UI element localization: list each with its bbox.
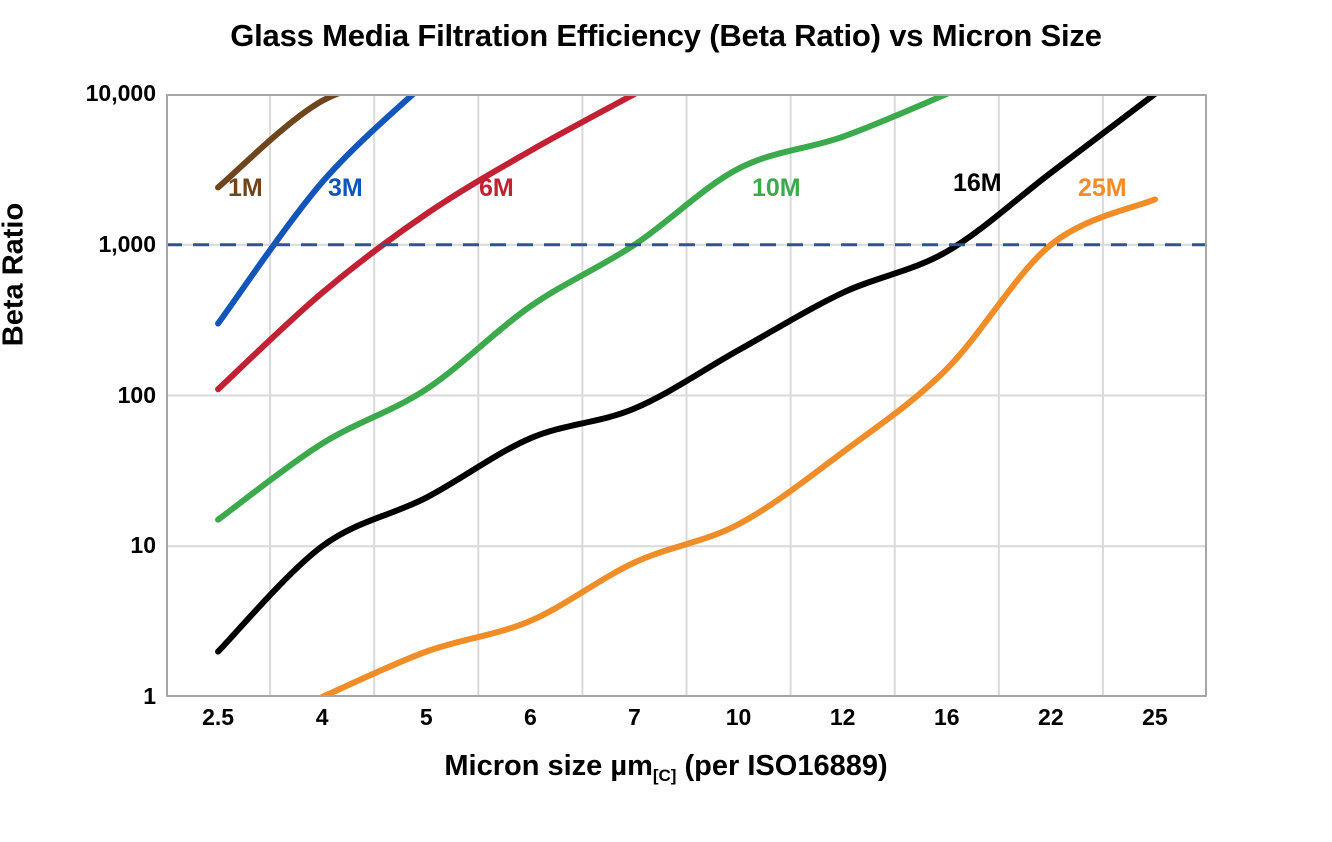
series-label-10M: 10M	[752, 176, 801, 201]
x-tick-label: 12	[783, 706, 903, 729]
x-tick-label: 25	[1095, 706, 1215, 729]
series-line-6M	[218, 94, 634, 389]
series-label-6M: 6M	[479, 176, 514, 201]
y-tick-label: 100	[0, 384, 156, 407]
chart-canvas: Glass Media Filtration Efficiency (Beta …	[0, 0, 1332, 842]
series-label-3M: 3M	[328, 176, 363, 201]
series-label-16M: 16M	[953, 171, 1002, 196]
x-tick-label: 2.5	[158, 706, 278, 729]
x-tick-label: 6	[470, 706, 590, 729]
y-tick-label: 10	[0, 534, 156, 557]
y-tick-label: 10,000	[0, 82, 156, 105]
x-tick-label: 22	[991, 706, 1111, 729]
x-tick-label: 16	[887, 706, 1007, 729]
x-axis-title-subscript: [C]	[653, 766, 677, 785]
plot-area: 10,0001,000100101 2.545671012162225	[166, 94, 1207, 697]
series-label-1M: 1M	[228, 176, 263, 201]
x-tick-label: 7	[574, 706, 694, 729]
series-label-25M: 25M	[1078, 176, 1127, 201]
page-title: Glass Media Filtration Efficiency (Beta …	[0, 18, 1332, 54]
x-tick-label: 5	[366, 706, 486, 729]
x-tick-label: 10	[679, 706, 799, 729]
x-axis-title-suffix: (per ISO16889)	[676, 750, 887, 782]
series-line-25M	[322, 199, 1155, 697]
x-tick-label: 4	[262, 706, 382, 729]
x-axis-title-main: Micron size µm	[444, 750, 652, 782]
y-tick-label: 1,000	[0, 233, 156, 256]
series-plot	[166, 94, 1207, 697]
y-tick-label: 1	[0, 685, 156, 708]
x-axis-title: Micron size µm[C] (per ISO16889)	[0, 750, 1332, 786]
y-axis-title: Beta Ratio	[0, 145, 31, 405]
